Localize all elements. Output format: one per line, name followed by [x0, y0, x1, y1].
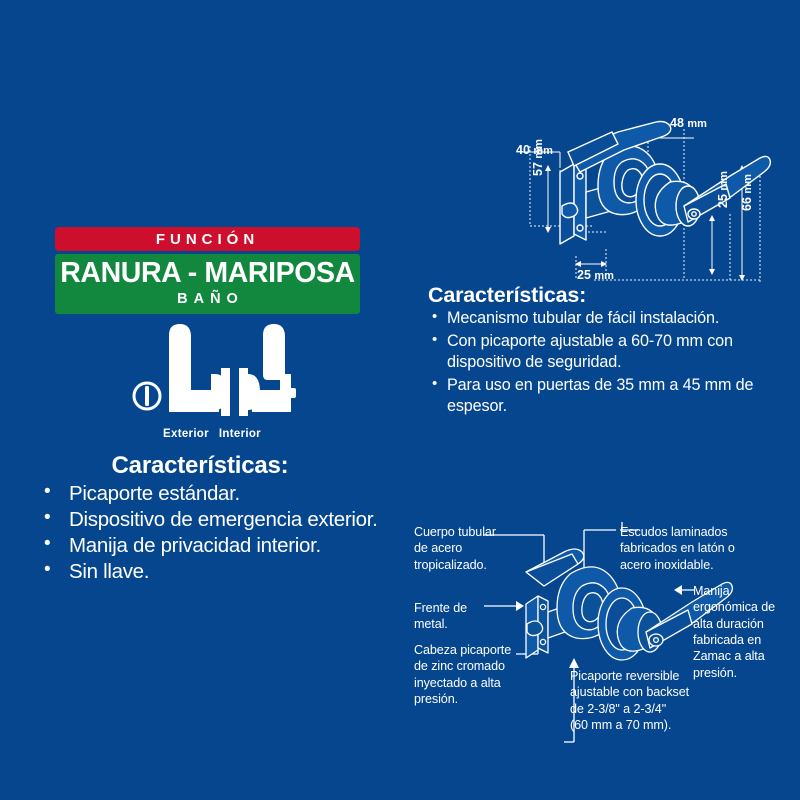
list-item-text: Con picaporte ajustable a 60-70 mm con — [447, 332, 733, 350]
lock-silhouette-icon — [128, 322, 296, 442]
dimension-value: 48 — [670, 116, 684, 130]
callout-manija-ergonomica: Manija ergonómica de alta duración fabri… — [693, 583, 793, 681]
list-item: Para uso en puertas de 35 mm a 45 mm de … — [430, 375, 770, 418]
list-item: Mecanismo tubular de fácil instalación. — [430, 308, 770, 330]
callout-cabeza-picaporte: Cabeza picaporte de zinc cromado inyecta… — [414, 642, 524, 707]
dimension-value: 40 — [516, 143, 530, 157]
list-item: Manija de privacidad interior. — [30, 533, 390, 559]
dimension-unit: mm — [742, 174, 754, 194]
callout-cuerpo-tubular: Cuerpo tubular de acero tropicalizado. — [414, 524, 524, 573]
product-spec-sheet: FUNCIÓN RANURA - MARIPOSA BAÑO — [0, 0, 800, 800]
list-item-text: Mecanismo tubular de fácil instalación. — [447, 309, 719, 327]
callout-escudos-laminados: Escudos laminados fabricados en latón o … — [620, 524, 770, 573]
left-features-title: Características: — [0, 452, 400, 480]
dimension-value: 25 — [716, 194, 730, 208]
badge-function-name: RANURA - MARIPOSA — [55, 258, 360, 289]
list-item-continuation: espesor. — [447, 396, 770, 418]
dimension-unit: mm — [594, 270, 614, 282]
badge-function-type: RANURA - MARIPOSA BAÑO — [55, 254, 360, 314]
dimension-label-25mm-depth: 25 mm — [577, 268, 614, 282]
badge-funcion: FUNCIÓN — [55, 227, 360, 251]
dimension-label-25mm-rose: 25 mm — [716, 171, 730, 208]
list-item: Con picaporte ajustable a 60-70 mm con d… — [430, 331, 770, 374]
dimension-unit: mm — [533, 139, 545, 159]
label-interior: Interior — [219, 428, 261, 440]
right-features-title: Características: — [428, 283, 586, 308]
list-item: Sin llave. — [30, 559, 390, 585]
badge-funcion-label: FUNCIÓN — [156, 231, 259, 248]
dimension-label-66mm: 66 mm — [740, 174, 754, 211]
callout-frente-de-metal: Frente de metal. — [414, 600, 500, 633]
lock-side-labels: ExteriorInterior — [128, 428, 296, 440]
dimension-value: 25 — [577, 268, 591, 282]
label-exterior: Exterior — [163, 428, 209, 440]
left-features-list: Picaporte estándar. Dispositivo de emerg… — [30, 481, 390, 585]
dimension-unit: mm — [687, 118, 707, 130]
dimension-label-57mm: 57 mm — [531, 139, 545, 176]
right-features-list: Mecanismo tubular de fácil instalación. … — [430, 308, 770, 419]
dimension-value: 57 — [531, 162, 545, 176]
badge-function-room: BAÑO — [55, 291, 360, 307]
lock-silhouette-figure — [128, 322, 296, 442]
list-item-continuation: dispositivo de seguridad. — [447, 352, 770, 374]
function-badge-group: FUNCIÓN RANURA - MARIPOSA BAÑO — [55, 227, 360, 314]
list-item: Dispositivo de emergencia exterior. — [30, 507, 390, 533]
dimension-value: 66 — [740, 197, 754, 211]
dimension-label-48mm: 48 mm — [670, 116, 707, 130]
callout-picaporte-reversible: Picaporte reversible ajustable con backs… — [570, 668, 720, 733]
list-item: Picaporte estándar. — [30, 481, 390, 507]
dimension-unit: mm — [718, 171, 730, 191]
list-item-text: Para uso en puertas de 35 mm a 45 mm de — [447, 376, 753, 394]
